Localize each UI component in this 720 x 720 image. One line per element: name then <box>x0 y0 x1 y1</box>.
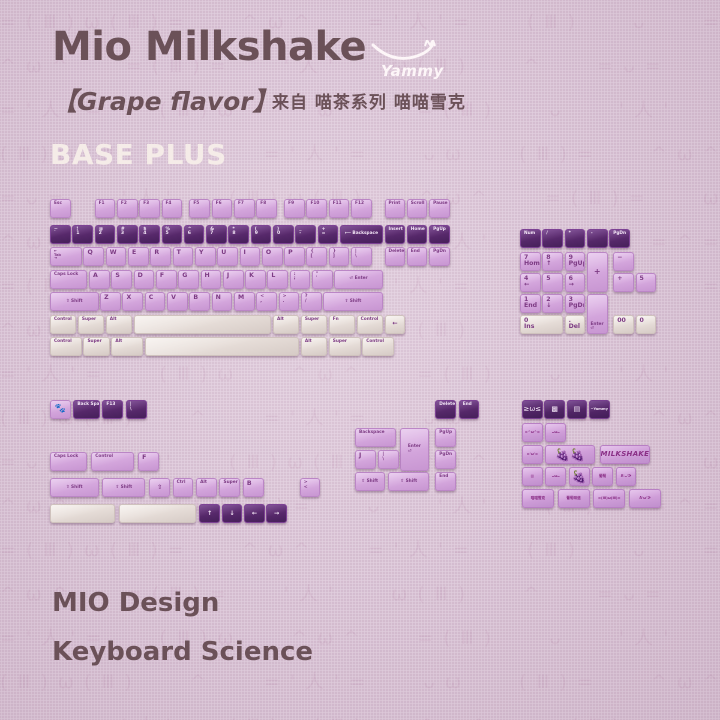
numpad-2[interactable]: 2↓ <box>542 294 563 313</box>
key-legend-primary: C <box>149 295 154 301</box>
key-end[interactable]: End <box>407 247 428 266</box>
key-legend-primary: U <box>221 250 226 256</box>
key-arrow-right[interactable]: → <box>266 504 287 523</box>
novelty-label-cn: 葡萄味道 <box>566 497 580 501</box>
key-legend-primary: F13 <box>106 403 115 407</box>
key-f1[interactable]: F1 <box>95 199 116 218</box>
key-f2[interactable]: F2 <box>117 199 138 218</box>
key-super-alt[interactable]: Super <box>219 478 240 497</box>
key-z[interactable]: Z <box>100 292 121 311</box>
key-legend-primary: End <box>463 403 472 407</box>
key-f5[interactable]: F5 <box>189 199 210 218</box>
numpad-enter[interactable]: Enter⏎ <box>587 294 608 334</box>
key-j[interactable]: J <box>223 270 244 289</box>
key-legend-primary: F <box>142 455 146 461</box>
key-s[interactable]: S <box>111 270 132 289</box>
key-1[interactable]: !1 <box>72 225 93 244</box>
key-x[interactable]: X <box>122 292 143 311</box>
key-delete[interactable]: Delete <box>385 247 406 266</box>
key-punct[interactable]: "' <box>312 270 333 289</box>
key-legend-primary: F2 <box>121 202 127 206</box>
key-legend-primary: ⇧ Shift <box>400 480 417 484</box>
key-control[interactable]: Control <box>357 315 383 334</box>
key-legend-primary: R <box>154 250 159 256</box>
key-c[interactable]: C <box>145 292 166 311</box>
key-legend-primary: 5 <box>546 276 550 282</box>
key-f8[interactable]: F8 <box>256 199 277 218</box>
key-legend-primary: Print <box>389 202 401 206</box>
footer-line-2: Keyboard Science <box>52 637 313 667</box>
key-f4[interactable]: F4 <box>162 199 183 218</box>
grape-single-icon: 🍇 <box>572 471 587 483</box>
numpad-plus-alt[interactable]: + <box>613 273 634 292</box>
key-legend-secondary: 5 <box>166 232 169 237</box>
key-f13[interactable]: F13 <box>102 400 123 419</box>
key-legend-primary: Super <box>87 340 101 344</box>
novelty-cat-face-happy-0[interactable]: =^ω^= <box>522 423 543 442</box>
numpad-5[interactable]: 5 <box>542 273 563 292</box>
key-shift-long[interactable]: ⇧ Shift <box>50 478 99 497</box>
key-k[interactable]: K <box>245 270 266 289</box>
novelty-cat-paw-wave-6[interactable]: ᴗωᴗ <box>545 467 566 486</box>
key-legend-primary: Control <box>54 340 72 344</box>
key-control[interactable]: Control <box>50 315 76 334</box>
yammy-swoosh-icon: ~Yammy <box>590 408 608 412</box>
key-legend-primary: ⇧ Shift <box>66 300 83 304</box>
numpad-00[interactable]: 00 <box>613 315 634 334</box>
key-enter-iso[interactable]: Enter⏎ <box>400 428 430 471</box>
key-alt[interactable]: Alt <box>273 315 299 334</box>
key-end-nav[interactable]: End <box>435 472 456 491</box>
key-bracket[interactable]: }] <box>329 247 350 266</box>
key-legend-primary: D <box>138 273 143 279</box>
key-back-space[interactable]: Back Space <box>73 400 99 419</box>
key-super-alt[interactable]: Super <box>329 337 361 356</box>
key-delete-alt[interactable]: Delete <box>435 400 456 419</box>
key-pgdn-alt[interactable]: PgDn <box>435 450 456 469</box>
key-legend-primary: ← <box>252 511 257 517</box>
numpad-dot[interactable]: .Del <box>565 315 586 334</box>
paw-print-icon: 🐾 <box>55 405 66 414</box>
key-shift-short[interactable]: ⇧ <box>149 478 170 497</box>
key-legend-primary: Alt <box>277 318 284 322</box>
key-legend-primary: Enter⏎ <box>590 323 603 332</box>
numpad-9[interactable]: 9PgUp <box>565 252 586 271</box>
key-legend-primary: Alt <box>115 340 122 344</box>
key-punct[interactable]: <, <box>256 292 277 311</box>
numpad-/[interactable]: / <box>542 229 563 248</box>
key-i[interactable]: I <box>240 247 261 266</box>
novelty-葡萄-8[interactable]: 葡萄 <box>592 467 613 486</box>
key-legend-primary: Control <box>95 455 113 459</box>
key-alt-alt[interactable]: Alt <box>111 337 143 356</box>
key-f10[interactable]: F10 <box>306 199 327 218</box>
key-arrow-left[interactable]: ← <box>385 315 406 334</box>
key-legend-secondary: ↑ <box>546 261 551 267</box>
grape-cluster-icon: 🍇🍇 <box>555 449 585 461</box>
key-legend-primary: * <box>569 232 571 236</box>
key-legend-primary: L <box>271 273 275 279</box>
numpad-7[interactable]: 7Home <box>520 252 541 271</box>
key-pgup-alt[interactable]: PgUp <box>435 428 456 447</box>
key-punct[interactable]: ?/ <box>301 292 322 311</box>
key-f[interactable]: F <box>156 270 177 289</box>
key-legend-primary: → <box>274 511 279 517</box>
numpad-pgdn[interactable]: PgDn <box>609 229 630 248</box>
key--[interactable]: _- <box>295 225 316 244</box>
key-legend-primary: ← <box>392 321 397 327</box>
key-enter[interactable]: ⏎ Enter <box>334 270 383 289</box>
key-b-alt[interactable]: B <box>243 478 264 497</box>
key-q[interactable]: Q <box>83 247 104 266</box>
key-=[interactable]: += <box>318 225 339 244</box>
numpad--[interactable]: - <box>587 229 608 248</box>
key-punct[interactable]: >. <box>279 292 300 311</box>
kaomoji-icon: ᕕ'ᴗ'ᕗ <box>621 475 632 479</box>
key-0[interactable]: )0 <box>273 225 294 244</box>
novelty-cat-face-whiskers[interactable]: ≥ω≤ <box>522 400 543 419</box>
key-legend-primary: Super <box>333 340 347 344</box>
key-legend-primary: F12 <box>355 202 364 206</box>
key-legend-primary: Back Space <box>77 403 99 407</box>
key-legend-primary: ⇧ Shift <box>66 486 83 490</box>
cat-face-happy-icon: =^ω^= <box>525 431 540 435</box>
numpad-6[interactable]: 6→ <box>565 273 586 292</box>
key-3[interactable]: #3 <box>117 225 138 244</box>
key-v[interactable]: V <box>167 292 188 311</box>
key-super[interactable]: Super <box>78 315 104 334</box>
novelty-kaomoji-9[interactable]: ᕕ'ᴗ'ᕗ <box>616 467 637 486</box>
key-m[interactable]: M <box>234 292 255 311</box>
key-legend-primary: Delete <box>439 403 455 407</box>
key-pipe-alt[interactable]: |\ <box>378 450 399 469</box>
key-tab[interactable]: ⇤Tab⇥ <box>50 247 82 266</box>
key-legend-primary: Alt <box>110 318 117 322</box>
key-spacebar-alt[interactable] <box>145 337 300 356</box>
key-paw-novelty[interactable]: 🐾 <box>50 400 71 419</box>
key-legend-primary: F3 <box>143 202 149 206</box>
key-legend-secondary: - <box>299 232 301 237</box>
key-legend-primary: PgDn <box>613 232 626 236</box>
key-f6[interactable]: F6 <box>212 199 233 218</box>
key-legend-secondary: 2 <box>99 232 102 237</box>
novelty-grape-single-7[interactable]: 🍇 <box>569 467 590 486</box>
key-legend-primary: + <box>594 268 601 276</box>
key-pipe[interactable]: |\ <box>126 400 147 419</box>
key-shift[interactable]: ⇧ Shift <box>50 292 99 311</box>
key-8[interactable]: *8 <box>228 225 249 244</box>
key-legend-primary: ↓ <box>229 511 234 517</box>
key-legend-secondary: PgDn <box>569 303 586 309</box>
key-legend-primary: Y <box>199 250 203 256</box>
key-arrow-up[interactable]: ↑ <box>199 504 220 523</box>
key-f12[interactable]: F12 <box>351 199 372 218</box>
key-shift-med[interactable]: ⇧ Shift <box>102 478 145 497</box>
key-fn[interactable]: Fn <box>329 315 355 334</box>
key-legend-secondary: 1 <box>76 232 79 237</box>
key-legend-primary: I <box>244 250 246 256</box>
key-r[interactable]: R <box>150 247 171 266</box>
key-legend-secondary: 9 <box>255 232 258 237</box>
cat-ears-icon: ᴗωᴗ <box>552 431 560 435</box>
key-u[interactable]: U <box>217 247 238 266</box>
key-e[interactable]: E <box>128 247 149 266</box>
key-spacebar-long-2[interactable] <box>119 504 195 523</box>
key-backspace[interactable]: ⟵ Backspace <box>340 225 383 244</box>
milkshake-banner-icon: MILKSHAKE <box>601 451 650 458</box>
key-legend-primary: PgDn <box>439 453 452 457</box>
numpad-1[interactable]: 1End <box>520 294 541 313</box>
key-legend-primary: A <box>93 273 98 279</box>
popsicle-icon: ▥ <box>531 475 534 479</box>
key-legend-secondary: . <box>283 300 285 305</box>
numpad-3[interactable]: 3PgDn <box>565 294 586 313</box>
key-legend-primary: Caps Lock <box>54 455 78 459</box>
key-f9[interactable]: F9 <box>284 199 305 218</box>
key-legend-secondary: ↓ <box>546 303 551 309</box>
key-spacebar[interactable] <box>134 315 272 334</box>
key-pgup[interactable]: PgUp <box>429 225 450 244</box>
key-legend-secondary: \ <box>382 458 384 463</box>
key-legend-primary: N <box>216 295 221 301</box>
key-legend-secondary: 0 <box>277 232 280 237</box>
key-legend-primary: End <box>411 250 420 254</box>
key-legend-primary: Super <box>223 481 237 485</box>
key-legend-primary: F10 <box>310 202 319 206</box>
key-d[interactable]: D <box>134 270 155 289</box>
key-legend-primary: Control <box>361 318 379 322</box>
key-`[interactable]: ~` <box>50 225 71 244</box>
key-t[interactable]: T <box>173 247 194 266</box>
key-shift[interactable]: ⇧ Shift <box>323 292 383 311</box>
key-legend-primary: Caps Lock <box>54 273 78 277</box>
numpad-0[interactable]: 0Ins <box>520 315 563 334</box>
cat-face-whiskers-icon: ≥ω≤ <box>524 406 542 413</box>
key-legend-primary: / <box>546 232 548 236</box>
key-esc[interactable]: Esc <box>50 199 71 218</box>
key-g[interactable]: G <box>178 270 199 289</box>
key-legend-primary: Backspace <box>359 431 385 435</box>
key-f-alt[interactable]: F <box>138 452 159 471</box>
key-legend-primary: Home <box>411 228 425 232</box>
key-spacebar-long[interactable] <box>50 504 115 523</box>
key-legend-primary: X <box>126 295 131 301</box>
key-pgdn[interactable]: PgDn <box>429 247 450 266</box>
key-legend-primary: Super <box>82 318 96 322</box>
numpad-5-alt[interactable]: 5 <box>636 273 657 292</box>
key-legend-primary: 0 <box>640 318 644 324</box>
key-legend-primary: ⇧ Shift <box>345 300 362 304</box>
key-legend-primary: Control <box>54 318 72 322</box>
key-legend-secondary: 3 <box>121 232 124 237</box>
key-legend-secondary: \ <box>130 408 132 413</box>
key-5[interactable]: %5 <box>162 225 183 244</box>
key-legend-secondary: Home <box>524 261 541 267</box>
key-legend-secondary: 6 <box>188 232 191 237</box>
key-legend-primary: ↑ <box>207 511 212 517</box>
numpad-minus-alt[interactable]: − <box>613 252 634 271</box>
novelty-label-cn: 喵喵雪克 <box>531 497 545 501</box>
key-2[interactable]: @2 <box>95 225 116 244</box>
key-legend-secondary: → <box>569 282 574 288</box>
key-legend-primary: F6 <box>216 202 222 206</box>
key-legend-primary: H <box>205 273 210 279</box>
key-bracket[interactable]: {[ <box>306 247 327 266</box>
key-legend-primary: Delete <box>389 250 405 254</box>
key-backspace-alt[interactable]: Backspace <box>355 428 396 447</box>
key-shift-b[interactable]: ⇧ Shift <box>388 472 429 491</box>
key-legend-primary: ⇧ Shift <box>116 486 133 490</box>
key-legend-primary: 5 <box>640 276 644 282</box>
key-y[interactable]: Y <box>195 247 216 266</box>
key-bracket[interactable]: |\ <box>351 247 372 266</box>
novelty-葡萄味道-11[interactable]: 葡萄味道 <box>558 489 590 508</box>
key-home[interactable]: Home <box>407 225 428 244</box>
key-legend-primary: Scroll <box>411 202 425 206</box>
key-legend-primary: B <box>193 295 198 301</box>
numpad-4[interactable]: 4← <box>520 273 541 292</box>
key-legend-primary: J <box>227 273 229 279</box>
key-arrow-left[interactable]: ← <box>244 504 265 523</box>
novelty-kaomoji-12[interactable]: =(Ⅲ)ω(Ⅲ)= <box>593 489 625 508</box>
kaomoji-icon: ᕕ'ω'ᕗ <box>639 497 650 501</box>
key-legend-primary: J <box>359 453 361 459</box>
key-legend-primary: PgDn <box>433 250 446 254</box>
key-insert[interactable]: Insert <box>385 225 406 244</box>
milkshake-cup-icon: ▩ <box>551 406 558 413</box>
key-end-alt[interactable]: End <box>459 400 480 419</box>
key-ctrl-alt[interactable]: Ctrl <box>173 478 194 497</box>
key-legend-secondary: PgUp <box>569 261 586 267</box>
key-f3[interactable]: F3 <box>139 199 160 218</box>
key-legend-secondary: , <box>260 300 262 305</box>
numpad-*[interactable]: * <box>565 229 586 248</box>
key-control-alt[interactable]: Control <box>50 337 82 356</box>
key-legend-primary: F <box>160 273 164 279</box>
key-arrow-down[interactable]: ↓ <box>222 504 243 523</box>
key-legend-primary: T <box>177 250 181 256</box>
key-print[interactable]: Print <box>385 199 406 218</box>
key-a[interactable]: A <box>89 270 110 289</box>
key-b[interactable]: B <box>189 292 210 311</box>
key-f11[interactable]: F11 <box>329 199 350 218</box>
key-legend-secondary: ` <box>54 232 56 237</box>
juice-carton-icon: ▤ <box>574 406 581 413</box>
key-legend-primary: F7 <box>238 202 244 206</box>
key-alt-alt[interactable]: Alt <box>196 478 217 497</box>
numpad-8[interactable]: 8↑ <box>542 252 563 271</box>
key-shift-a[interactable]: ⇧ Shift <box>355 472 385 491</box>
kaomoji-icon: =(Ⅲ)ω(Ⅲ)= <box>598 497 621 501</box>
key-legend-secondary: [ <box>310 255 312 260</box>
cat-paw-wave-icon: ᴗωᴗ <box>552 475 560 479</box>
key-legend-primary: ⟵ Backspace <box>345 232 378 236</box>
numpad-num[interactable]: Num <box>520 229 541 248</box>
key-legend-secondary: = <box>322 232 326 237</box>
novelty-grape-cluster-3[interactable]: 🍇🍇 <box>545 445 595 464</box>
key-legend-primary: F1 <box>99 202 105 206</box>
key-legend-primary: F4 <box>166 202 172 206</box>
key-legend-primary: ⇤Tab⇥ <box>54 250 61 261</box>
key-angle-bracket[interactable]: >< <box>300 478 321 497</box>
numpad-0-alt[interactable]: 0 <box>636 315 657 334</box>
novelty-juice-carton[interactable]: ▤ <box>567 400 588 419</box>
key-l[interactable]: L <box>267 270 288 289</box>
key-legend-primary: Super <box>305 318 319 322</box>
key-legend-primary: F8 <box>260 202 266 206</box>
key-7[interactable]: &7 <box>206 225 227 244</box>
key-n[interactable]: N <box>212 292 233 311</box>
novelty-popsicle-5[interactable]: ▥ <box>522 467 543 486</box>
novelty-喵喵雪克-10[interactable]: 喵喵雪克 <box>522 489 554 508</box>
cat-face-smug-icon: ='ω'= <box>527 453 538 457</box>
key-alt[interactable]: Alt <box>106 315 132 334</box>
key-p[interactable]: P <box>284 247 305 266</box>
key-punct[interactable]: :; <box>290 270 311 289</box>
key-legend-secondary: 8 <box>232 232 235 237</box>
key-caps-lock-alt[interactable]: Caps Lock <box>50 452 87 471</box>
key-j-alt[interactable]: J <box>355 450 376 469</box>
key-legend-primary: Esc <box>54 202 62 206</box>
key-h[interactable]: H <box>201 270 222 289</box>
key-9[interactable]: (9 <box>251 225 272 244</box>
key-legend-primary: End <box>439 475 448 479</box>
key-legend-primary: P <box>288 250 293 256</box>
key-alt-alt[interactable]: Alt <box>301 337 327 356</box>
key-legend-primary: Enter⏎ <box>408 445 421 454</box>
key-f7[interactable]: F7 <box>234 199 255 218</box>
key-4[interactable]: $4 <box>139 225 160 244</box>
key-legend-primary: ⇧ Shift <box>361 480 378 484</box>
key-legend-primary: - <box>591 232 593 236</box>
key-legend-secondary: < <box>304 486 308 491</box>
key-w[interactable]: W <box>106 247 127 266</box>
key-pause[interactable]: Pause <box>429 199 450 218</box>
key-legend-primary: Control <box>366 340 384 344</box>
key-caps-lock[interactable]: Caps Lock <box>50 270 87 289</box>
key-legend-primary: Alt <box>305 340 312 344</box>
key-legend-primary: Insert <box>389 228 403 232</box>
novelty-label-cn: 葡萄 <box>599 475 606 479</box>
key-legend-primary: 00 <box>617 318 626 324</box>
novelty-cat-face-smug-2[interactable]: ='ω'= <box>522 445 543 464</box>
novelty-milkshake-cup[interactable]: ▩ <box>544 400 565 419</box>
key-scroll[interactable]: Scroll <box>407 199 428 218</box>
key-6[interactable]: ^6 <box>184 225 205 244</box>
novelty-kaomoji-13[interactable]: ᕕ'ω'ᕗ <box>629 489 661 508</box>
key-super[interactable]: Super <box>301 315 327 334</box>
key-super-alt[interactable]: Super <box>83 337 109 356</box>
key-control-alt[interactable]: Control <box>362 337 394 356</box>
key-legend-primary: Pause <box>433 202 447 206</box>
key-legend-primary: Z <box>104 295 109 301</box>
key-control-alt[interactable]: Control <box>91 452 134 471</box>
key-legend-primary: V <box>171 295 176 301</box>
key-legend-secondary: \ <box>355 255 357 260</box>
key-o[interactable]: O <box>262 247 283 266</box>
key-legend-secondary: ; <box>294 277 296 282</box>
novelty-cat-ears-1[interactable]: ᴗωᴗ <box>545 423 566 442</box>
numpad-plus[interactable]: + <box>587 252 608 292</box>
key-legend-primary: F9 <box>288 202 294 206</box>
novelty-yammy-swoosh[interactable]: ~Yammy <box>589 400 610 419</box>
key-legend-secondary: Del <box>569 324 580 330</box>
key-legend-primary: + <box>617 276 622 282</box>
key-legend-secondary: / <box>305 300 307 305</box>
key-legend-secondary: End <box>524 303 537 309</box>
key-legend-secondary: 7 <box>210 232 213 237</box>
novelty-milkshake-banner-4[interactable]: MILKSHAKE <box>600 445 650 464</box>
